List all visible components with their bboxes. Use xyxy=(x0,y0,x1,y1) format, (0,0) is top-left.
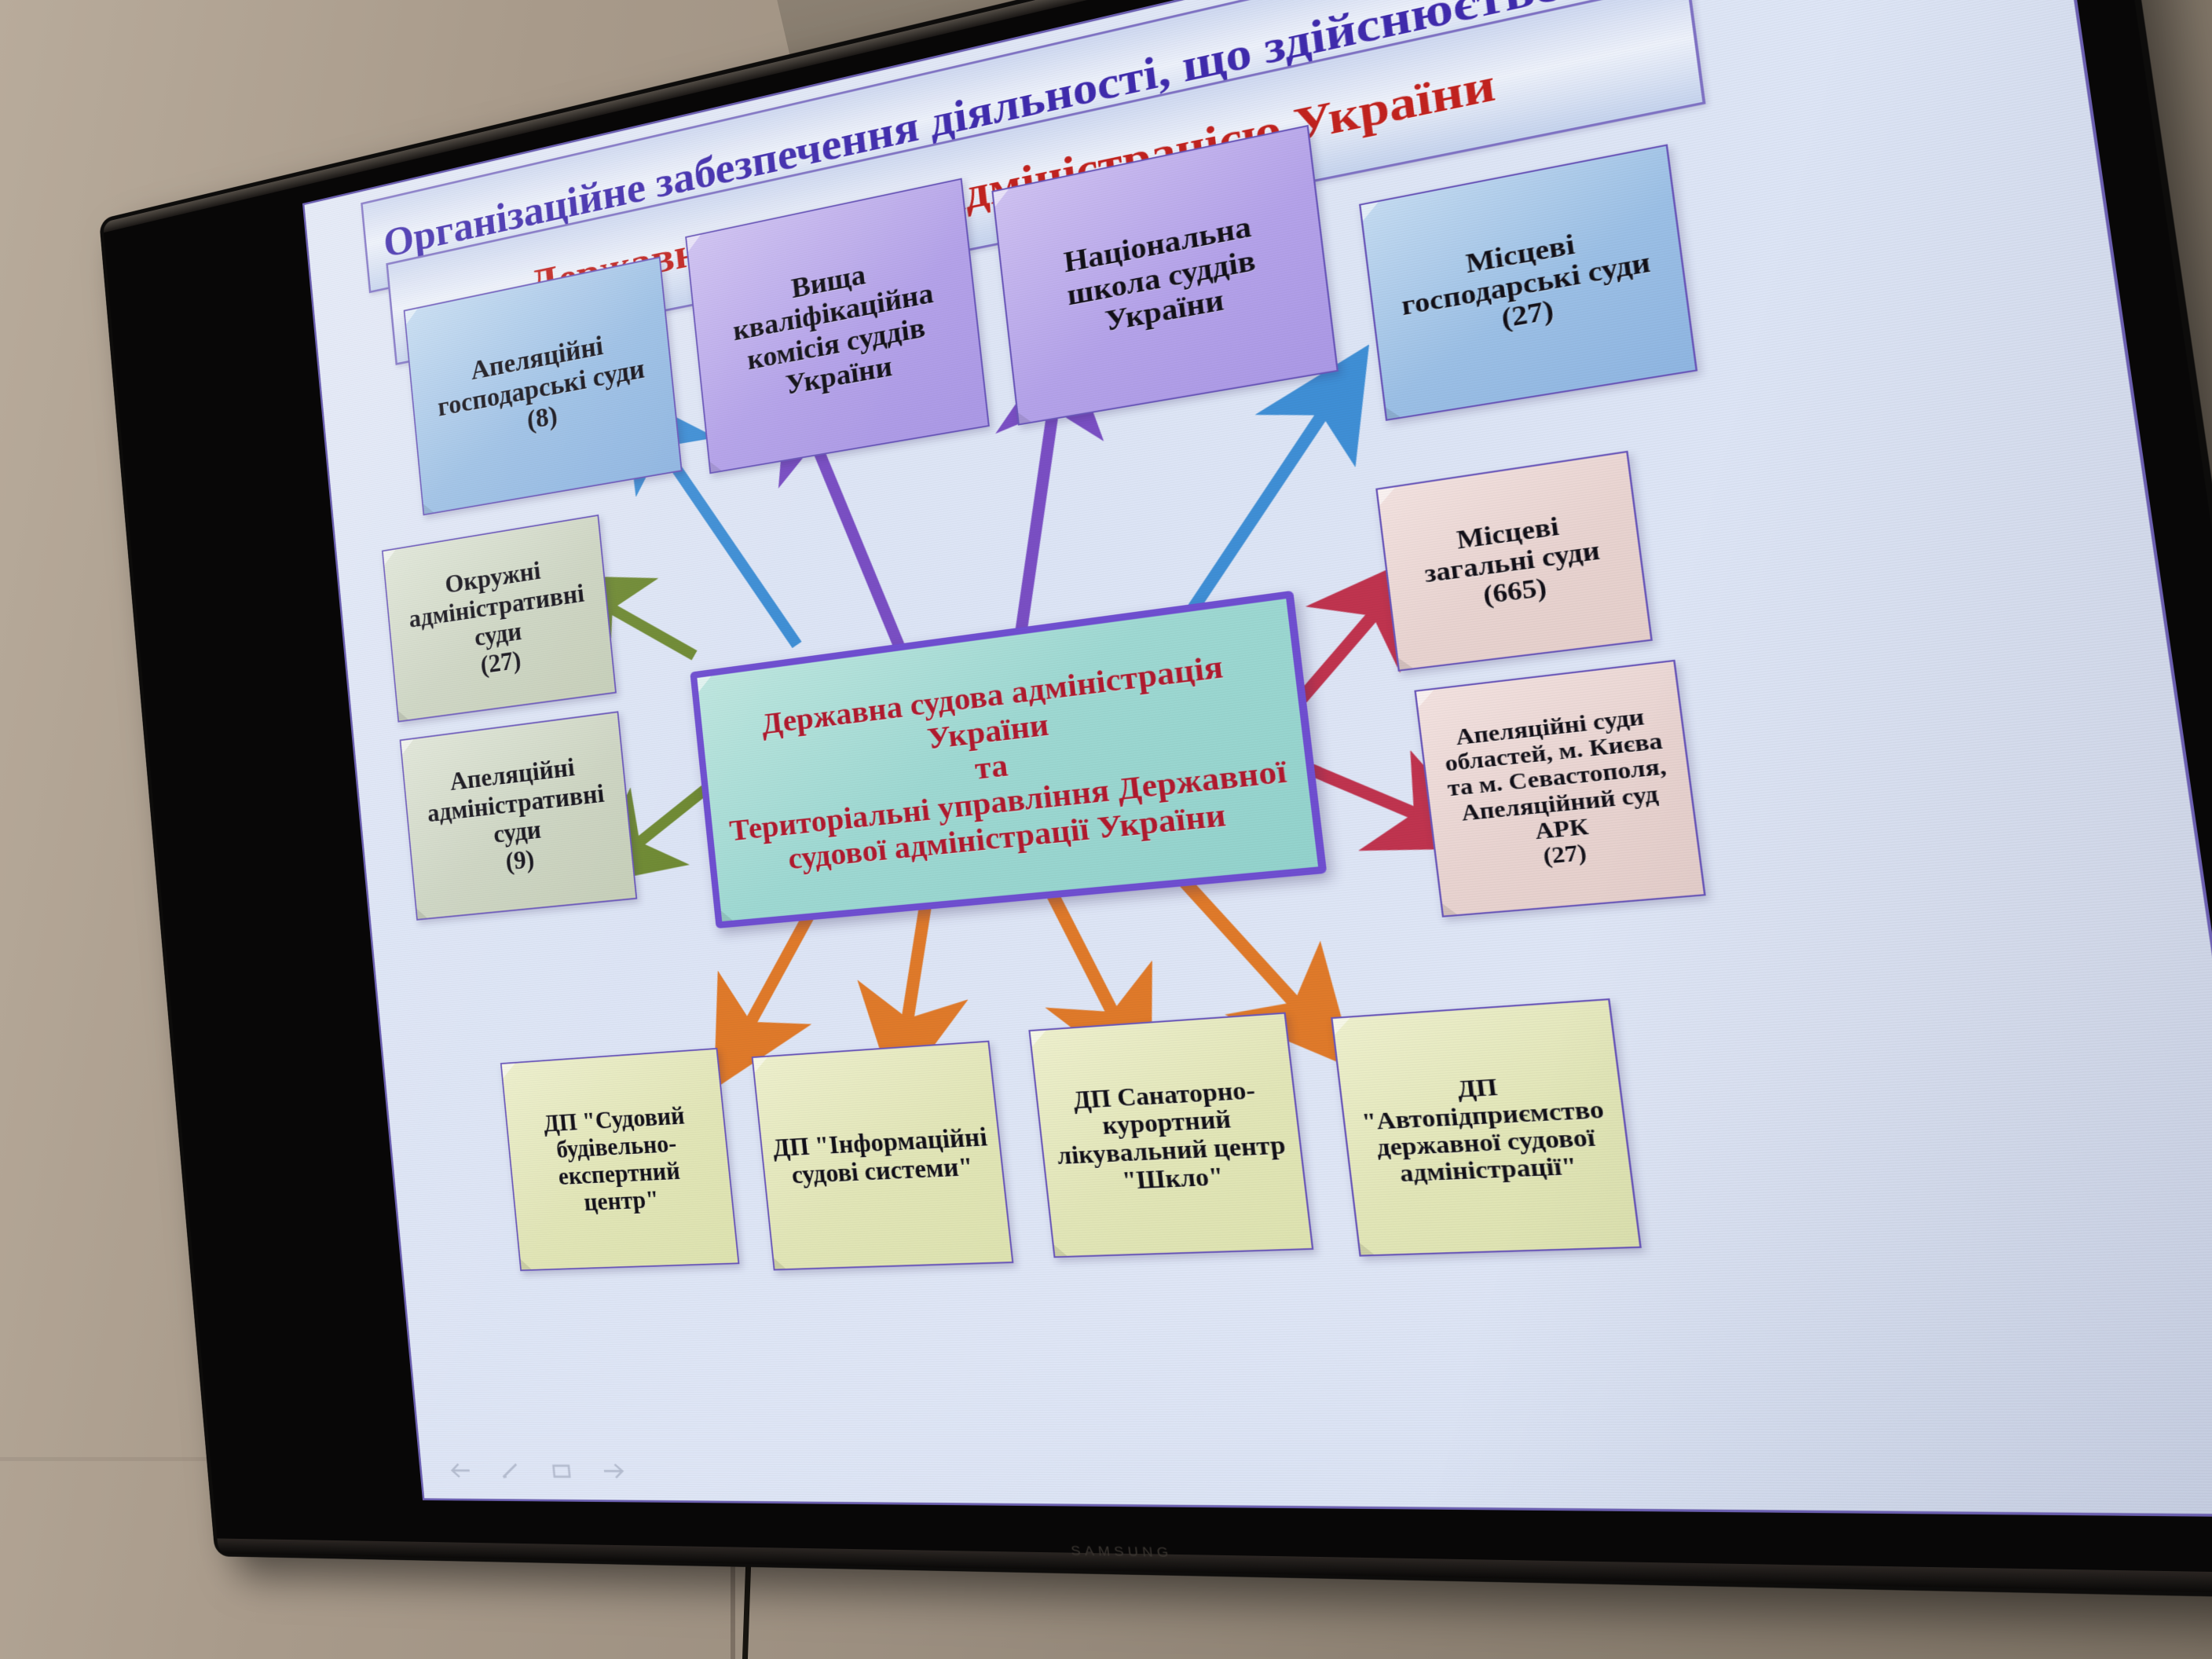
arrow-to-motor-transport-enterprise xyxy=(1170,855,1300,1016)
node-appellate-administrative-courts[interactable]: Апеляційні адміністративні суди (9) xyxy=(400,711,638,921)
node-state-judicial-administration[interactable]: Державна судова адміністрація України та… xyxy=(690,591,1327,929)
television: SAMSUNG Організаційне забезпечення діяль… xyxy=(47,0,2105,1659)
presenter-toolbar[interactable] xyxy=(449,1461,626,1481)
arrow-to-local-commercial-courts xyxy=(1137,409,1353,654)
node-regional-appellate-courts[interactable]: Апеляційні суди областей, м. Києва та м.… xyxy=(1414,660,1705,917)
node-motor-transport-enterprise[interactable]: ДП "Автопідприємство державної судової а… xyxy=(1331,998,1642,1257)
node-information-judicial-systems[interactable]: ДП "Інформаційні судові системи" xyxy=(752,1041,1014,1271)
menu-icon[interactable] xyxy=(549,1461,574,1480)
arrow-to-district-administrative-courts xyxy=(607,594,694,667)
previous-arrow-icon[interactable] xyxy=(449,1461,473,1480)
arrow-to-local-general-courts xyxy=(1285,610,1389,707)
node-local-commercial-courts[interactable]: Місцеві господарські суди (27) xyxy=(1359,144,1697,421)
node-judicial-construction-expert-center[interactable]: ДП "Судовий будівельно- експертний центр… xyxy=(500,1048,740,1271)
pen-icon[interactable] xyxy=(498,1461,523,1480)
node-local-general-courts[interactable]: Місцеві загальні суди (665) xyxy=(1375,451,1653,672)
room-scene: SAMSUNG Організаційне забезпечення діяль… xyxy=(0,0,2212,1659)
next-arrow-icon[interactable] xyxy=(600,1461,626,1481)
node-district-administrative-courts[interactable]: Окружні адміністративні суди (27) xyxy=(382,515,617,723)
